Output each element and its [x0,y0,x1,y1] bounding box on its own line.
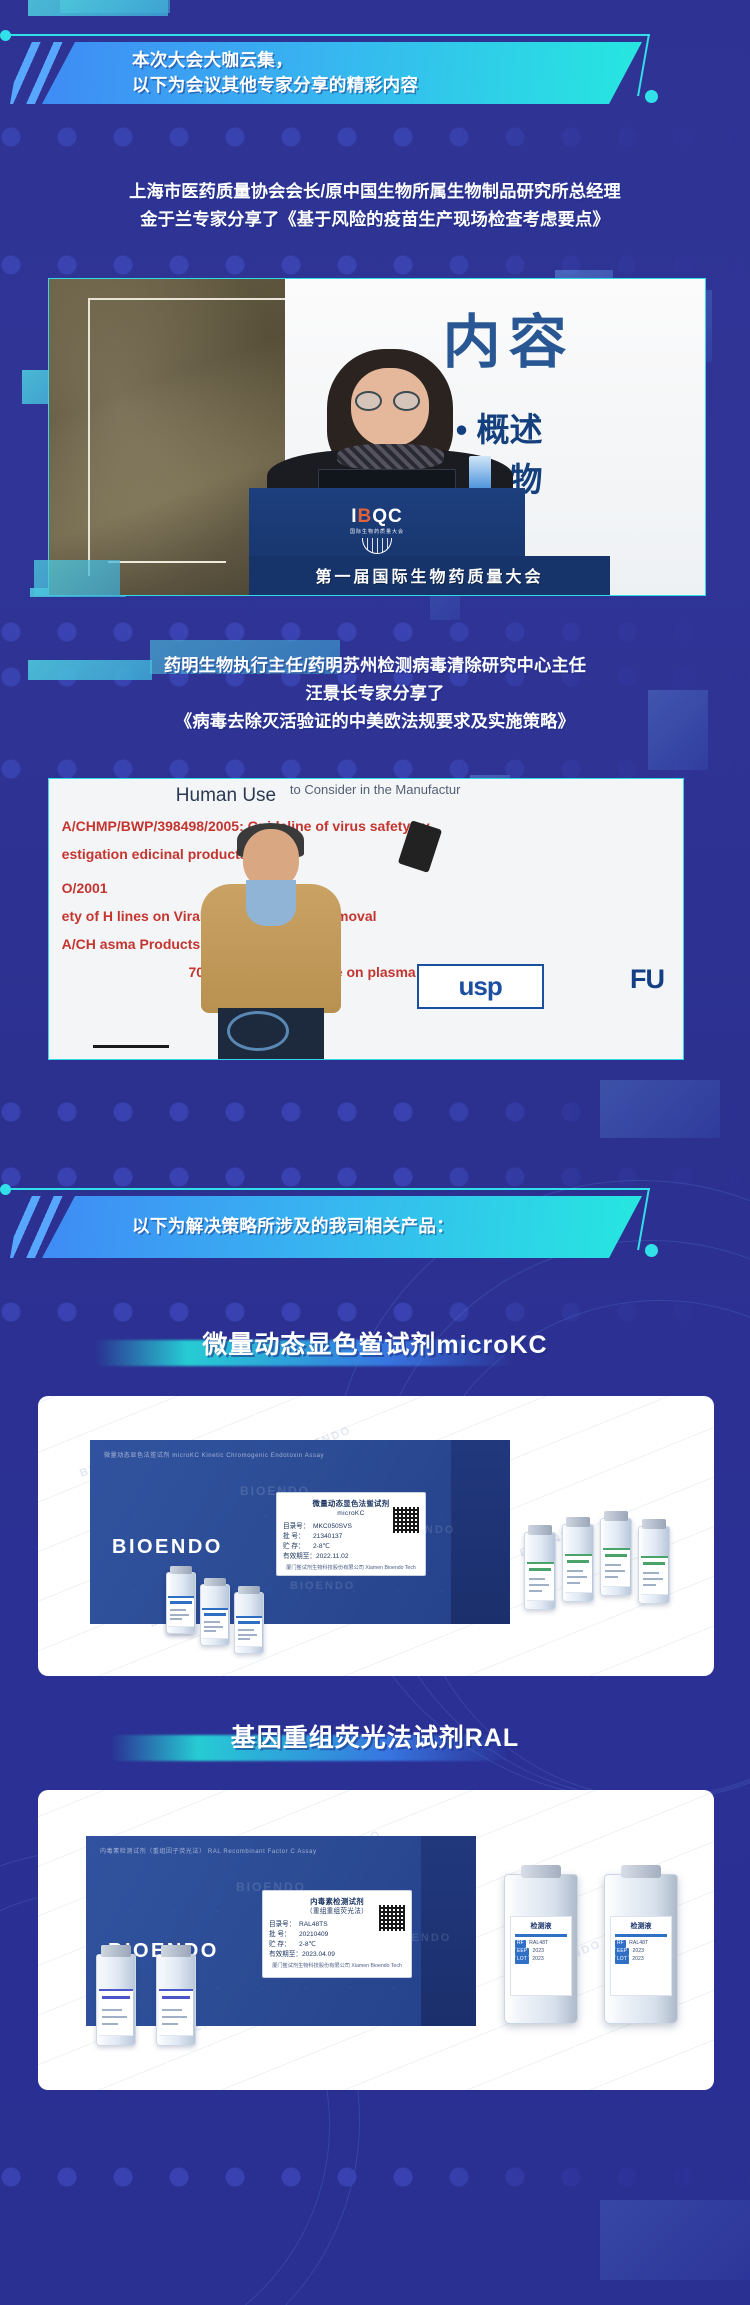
deco-dots-1 [0,120,750,154]
vial-label-line [162,2016,187,2018]
bigvial-label-0: 检测液 RF RAL48T EEP 2023 LOT 2023 [510,1916,572,1996]
product-1-label-val-1: 21340137 [313,1532,342,1542]
photo2-slide-line-4: O/2001 [62,880,108,896]
vial-label-line [567,1576,587,1578]
vial-label-bar [529,1568,552,1571]
product-2-smallvial-1 [156,1954,196,2046]
bigvial1-val-0: RAL48T [629,1940,648,1946]
speaker-1-caption: 上海市医药质量协会会长/原中国生物所属生物制品研究所总经理 金于兰专家分享了《基… [0,178,750,234]
deco-dots-8 [0,1095,750,1129]
vial-label-line [529,1578,545,1580]
deco-chip-bottom [600,2200,750,2280]
qr-code-icon [393,1507,419,1533]
product-2-label-key-0: 目录号： [269,1920,299,1930]
vial-cap [621,1865,661,1878]
banner2-body: 以下为解决策略所涉及的我司相关产品： [42,1196,642,1258]
product-1-label-key-0: 目录号： [283,1522,313,1532]
product-1-box-toptext: 微量动态显色法鲎试剂 microKC Kinetic Chromogenic E… [104,1450,324,1459]
photo2-usp-logo-text: usp [459,971,502,1002]
vial-label [159,1989,193,2036]
vial-label-line [238,1629,253,1631]
product-1-vial-6 [638,1526,670,1604]
vial-label [168,1596,193,1627]
bigvial1-tag-0: RF [615,1940,626,1948]
vial-label-line [605,1570,625,1572]
product-1-brand-ghost-c: BIOENDO [290,1580,355,1592]
product-1-label-row-3: 有效期至： 2022.11.02 [283,1552,419,1562]
banner2-topline [8,1188,650,1190]
bigvial1-val-1: 2023 [633,1948,645,1954]
photo1-conference-banner: 第一届国际生物药质量大会 [249,556,610,596]
bigvial-val-0: RAL48T [529,1940,548,1946]
vial-label [565,1554,592,1594]
bigvial-tag-0: RF [515,1940,526,1948]
product-1-vial-5 [600,1518,632,1596]
product-2-label-val-3: 2023.04.09 [302,1950,335,1960]
product-2-label-val-1: 20210409 [299,1930,328,1940]
bigvial-label-rule [615,1934,667,1937]
product-1-box-side [451,1440,510,1624]
product-1-card: BIOENDO BIOENDO BIOENDO BIOENDO 微量动态显色法鲎… [38,1396,714,1676]
section-banner-2: 以下为解决策略所涉及的我司相关产品： [0,1182,750,1274]
vial-label-line [605,1576,618,1578]
banner-1-text: 本次大会大咖云集， 以下为会议其他专家分享的精彩内容 [42,48,418,99]
speaker-2-photo-frame: Human Use to Consider in the Manufactur … [48,778,684,1060]
vial-label-line [162,2009,183,2011]
vial-label-bar [204,1613,225,1616]
vial-cap [528,1525,552,1535]
product-2-box-side [421,1836,476,2026]
bigvial-label-title-0: 检测液 [515,1921,567,1931]
photo1-glasses-left [355,391,382,411]
banner-dot-right [645,90,658,103]
product-2-label-row-2: 贮 存： 2-8℃ [269,1940,405,1950]
photo1-conference-banner-text: 第一届国际生物药质量大会 [315,563,543,587]
banner-dot-left [0,30,11,41]
product-1-label: 微量动态显色法鲎试剂 microKC 目录号： MKC050SVS 批 号： 2… [276,1492,426,1576]
vial-cap [238,1586,260,1594]
product-1-box: 微量动态显色法鲎试剂 microKC Kinetic Chromogenic E… [90,1440,510,1624]
bigvial1-tag-1: EEP [615,1948,629,1956]
vial-cap [101,1945,131,1957]
photo2-slide-line-1: to Consider in the Manufactur [290,782,461,797]
photo1-scarf [337,444,444,470]
product-2-box: 内毒素检测试剂（重组因子荧光法） RAL Recombinant Factor … [86,1836,476,2026]
vial-label [99,1989,133,2036]
promo-page: 本次大会大咖云集， 以下为会议其他专家分享的精彩内容 上海市医药质量协会会长/原… [0,0,750,2305]
deco-dots-2 [0,248,750,282]
photo1-ibqc-logo-text: IBQC [350,507,404,526]
product-2-label-val-2: 2-8℃ [299,1940,316,1950]
section-banner-1: 本次大会大咖云集， 以下为会议其他专家分享的精彩内容 [0,28,750,120]
bigvial-row-0: RF RAL48T [515,1940,567,1948]
vial-label-line [102,2023,118,2025]
product-2-label-row-3: 有效期至： 2023.04.09 [269,1950,405,1960]
photo2-bottom-line [93,1045,169,1048]
vial-label-bar [567,1560,590,1563]
photo1-ibqc-logo-sub: 国际生物药质量大会 [350,528,404,535]
vial-cap [521,1865,561,1878]
speaker-1-photo-frame: 内容 • 概述 • 生物 IBQC 国际生物药质量大会 第一届国际生物药质量大会 [48,278,706,596]
vial-label-line [643,1578,663,1580]
photo1-glasses-right [393,391,420,411]
photo2-shirt-collar [246,880,296,926]
vial-label-line [170,1609,185,1611]
bigvial-row-1: EEP 2023 [515,1948,567,1956]
vial-label-bar [605,1554,628,1557]
product-1-vial-0b [166,1572,196,1634]
vial-label-line [162,2023,178,2025]
bigvial1-row-0: RF RAL48T [615,1940,667,1948]
bigvial-val-2: 2023 [532,1956,544,1962]
vial-cap [604,1511,628,1521]
vial-label-line [643,1584,656,1586]
product-1-label-footer: 厦门鲎试剂生物科技股份有限公司 Xiamen Bioendo Tech [283,1565,419,1573]
product-2-label-key-1: 批 号： [269,1930,299,1940]
product-1-label-key-2: 贮 存： [283,1542,313,1552]
speaker-2-caption: 药明生物执行主任/药明苏州检测病毒清除研究中心主任 汪景长专家分享了 《病毒去除… [0,652,750,736]
deco-dots-bottom [0,2160,750,2194]
product-1-brand: BIOENDO [112,1536,223,1559]
vial-cap [566,1517,590,1527]
product-2-card: BIOENDO BIOENDO BIOENDO BIOENDO 内毒素检测试剂（… [38,1790,714,2090]
banner-topline [8,34,650,36]
vial-cap [170,1566,192,1574]
vial-label-line [204,1630,216,1632]
product-2-label-key-3: 有效期至： [269,1950,302,1960]
photo2-fu-logo: FU [630,964,664,995]
vial-label-line [238,1638,250,1640]
product-2-label-footer: 厦门鲎试剂生物科技股份有限公司 Xiamen Bioendo Tech [269,1963,405,1971]
vial-label-bar [170,1601,191,1604]
product-1-label-val-0: MKC050SVS [313,1522,352,1532]
photo2-slide-line-0: Human Use [176,785,276,807]
bigvial-tag-2: LOT [515,1956,529,1964]
vial-label-line [204,1621,219,1623]
product-1-label-key-1: 批 号： [283,1532,313,1542]
vial-cap [204,1578,226,1586]
vial-label-line [170,1614,189,1616]
vial-label-bar [162,1996,191,1999]
vial-label-bar [643,1562,666,1565]
banner-2-text: 以下为解决策略所涉及的我司相关产品： [42,1214,454,1239]
vial-label-line [529,1590,542,1592]
deco-dots-7 [0,1295,750,1329]
photo1-ibqc-logo: IBQC 国际生物药质量大会 [350,507,404,554]
vial-label-line [238,1634,257,1636]
deco-teal-chip-top2 [60,0,170,13]
vial-label-line [102,2009,123,2011]
vial-label-line [605,1564,621,1566]
bigvial-label-rule [515,1934,567,1937]
bigvial1-row-1: EEP 2023 [615,1948,667,1956]
vial-label-line [170,1618,182,1620]
vial-label-line [567,1570,583,1572]
bigvial-val-1: 2023 [533,1948,545,1954]
product-2-label: 内毒素检测试剂 （重组重组荧光法） 目录号： RAL48TS 批 号： 2021… [262,1890,412,1978]
product-2-title: 基因重组荧光法试剂RAL [0,1718,750,1754]
product-2-smallvial-0 [96,1954,136,2046]
photo2-linky-logo [227,1011,289,1051]
bigvial-row-2: LOT 2023 [515,1956,567,1964]
vial-label-line [204,1626,223,1628]
product-1-label-key-3: 有效期至： [283,1552,316,1562]
vial-cap [642,1519,666,1529]
speaker-1-photo: 内容 • 概述 • 生物 IBQC 国际生物药质量大会 第一届国际生物药质量大会 [49,279,705,595]
vial-label [236,1616,261,1647]
vial-label-bar [102,1996,131,1999]
product-1-label-row-2: 贮 存： 2-8℃ [283,1542,419,1552]
product-1-vial-2 [234,1592,264,1654]
banner2-dot-left [0,1184,11,1195]
banner2-dot-right [645,1244,658,1257]
product-2-label-key-2: 贮 存： [269,1940,299,1950]
product-1-vial-1 [200,1584,230,1646]
speaker-2-photo: Human Use to Consider in the Manufactur … [49,779,683,1059]
bigvial1-row-2: LOT 2023 [615,1956,667,1964]
vial-label [641,1556,668,1596]
globe-icon [362,538,392,554]
deco-dots-3 [0,615,750,649]
product-1-label-val-2: 2-8℃ [313,1542,330,1552]
product-2-bigvial-1: 检测液 RF RAL48T EEP 2023 LOT 2023 [604,1874,678,2024]
vial-label-line [567,1582,580,1584]
vial-label [527,1562,554,1602]
banner-body: 本次大会大咖云集， 以下为会议其他专家分享的精彩内容 [42,42,642,104]
vial-label-line [529,1584,549,1586]
deco-teal-chip-top [28,0,168,16]
product-1-label-val-3: 2022.11.02 [316,1552,349,1562]
product-1-title: 微量动态显色鲎试剂microKC [0,1325,750,1361]
vial-label [202,1608,227,1639]
bigvial-tag-1: EEP [515,1948,529,1956]
product-2-label-row-1: 批 号： 20210409 [269,1930,405,1940]
product-2-label-val-0: RAL48TS [299,1920,328,1930]
photo2-usp-logo: usp [417,964,544,1009]
bigvial1-val-2: 2023 [632,1956,644,1962]
product-1-label-row-1: 批 号： 21340137 [283,1532,419,1542]
vial-label-line [643,1572,659,1574]
vial-label-bar [238,1621,259,1624]
product-1-vial-3 [524,1532,556,1610]
qr-code-icon [379,1905,405,1931]
photo1-frame-underline [108,561,226,563]
deco-chip-after-photo2 [600,1080,720,1138]
photo2-slide-line-6: A/CH asma Products [62,936,200,952]
bigvial-label-title-1: 检测液 [615,1921,667,1931]
bigvial-label-1: 检测液 RF RAL48T EEP 2023 LOT 2023 [610,1916,672,1996]
vial-cap [161,1945,191,1957]
vial-label-line [102,2016,127,2018]
product-1-vial-4 [562,1524,594,1602]
vial-label [603,1548,630,1588]
product-2-box-toptext: 内毒素检测试剂（重组因子荧光法） RAL Recombinant Factor … [100,1846,317,1855]
bigvial1-tag-2: LOT [615,1956,629,1964]
product-2-bigvial-0: 检测液 RF RAL48T EEP 2023 LOT 2023 [504,1874,578,2024]
